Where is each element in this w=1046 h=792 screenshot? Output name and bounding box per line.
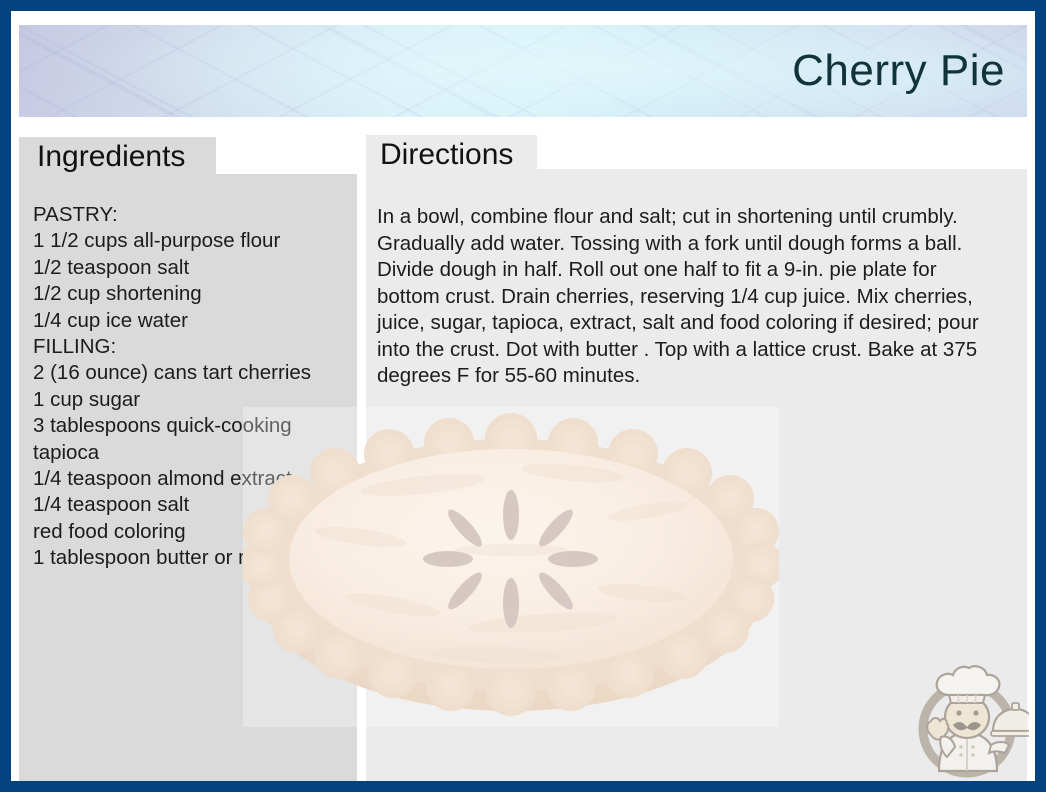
ingredient-line: 1 cup sugar [33,387,363,413]
directions-heading: Directions [380,140,513,170]
ingredient-line: 1/4 cup ice water [33,308,363,334]
ingredient-line: 1/4 teaspoon almond extract [33,466,363,492]
ingredients-heading: Ingredients [37,142,185,172]
direction-line: bottom crust. Drain cherries, reserving … [377,284,1031,311]
recipe-page: Cherry Pie Ingredients Directions PASTRY… [11,11,1035,781]
ingredient-line: 1/2 cup shortening [33,281,363,307]
chef-logo-icon [909,659,1029,781]
direction-line: degrees F for 55-60 minutes. [377,363,1031,390]
ingredient-line: tapioca [33,440,363,466]
ingredient-line: 3 tablespoons quick-cooking [33,413,363,439]
ingredient-line: 1 tablespoon butter or margarine [33,545,363,571]
ingredient-line: 2 (16 ounce) cans tart cherries [33,360,363,386]
recipe-slide: Cherry Pie Ingredients Directions PASTRY… [0,0,1046,792]
ingredient-line: 1/2 teaspoon salt [33,255,363,281]
direction-line: juice, sugar, tapioca, extract, salt and… [377,310,1031,337]
direction-line: Divide dough in half. Roll out one half … [377,257,1031,284]
direction-line: Gradually add water. Tossing with a fork… [377,231,1031,258]
ingredient-line: 1 1/2 cups all-purpose flour [33,228,363,254]
ingredients-list: PASTRY:1 1/2 cups all-purpose flour1/2 t… [33,202,363,572]
page-title: Cherry Pie [792,49,1005,93]
ingredient-line: red food coloring [33,519,363,545]
direction-line: into the crust. Dot with butter . Top wi… [377,337,1031,364]
directions-section-tab: Directions [366,135,537,175]
ingredients-section-tab: Ingredients [19,137,216,177]
directions-body-text: In a bowl, combine flour and salt; cut i… [377,204,1031,390]
ingredient-line: PASTRY: [33,202,363,228]
direction-line: In a bowl, combine flour and salt; cut i… [377,204,1031,231]
ingredient-line: 1/4 teaspoon salt [33,492,363,518]
header-banner: Cherry Pie [19,25,1027,117]
ingredient-line: FILLING: [33,334,363,360]
